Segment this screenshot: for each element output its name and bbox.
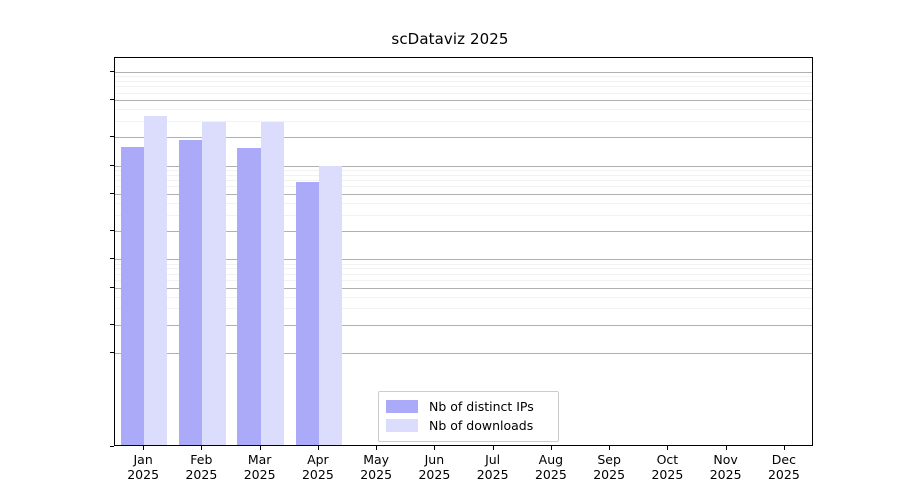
x-tick-mark [784, 446, 785, 450]
x-tick-month: Dec [747, 452, 821, 467]
y-tick-mark [110, 71, 114, 72]
x-tick-mark [609, 446, 610, 450]
x-tick-mark [726, 446, 727, 450]
x-tick-label: Dec2025 [747, 452, 821, 482]
x-tick-mark [376, 446, 377, 450]
x-tick-mark [493, 446, 494, 450]
x-tick-mark [551, 446, 552, 450]
y-tick-mark [110, 193, 114, 194]
x-tick-mark [434, 446, 435, 450]
y-tick-mark [110, 258, 114, 259]
y-tick-mark [110, 230, 114, 231]
chart-legend: Nb of distinct IPs Nb of downloads [378, 391, 559, 442]
y-tick-mark [110, 99, 114, 100]
x-tick-mark [260, 446, 261, 450]
chart-figure: scDataviz 2025 01251020501002005001000 J… [0, 0, 900, 500]
y-tick-mark [110, 165, 114, 166]
y-tick-mark [110, 287, 114, 288]
x-tick-mark [667, 446, 668, 450]
y-tick-mark [110, 446, 114, 447]
legend-item: Nb of distinct IPs [386, 397, 551, 416]
y-tick-mark [110, 324, 114, 325]
legend-label: Nb of distinct IPs [429, 399, 534, 414]
legend-swatch-icon [386, 400, 418, 413]
x-tick-mark [318, 446, 319, 450]
legend-item: Nb of downloads [386, 416, 551, 435]
x-tick-mark [143, 446, 144, 450]
x-tick-year: 2025 [747, 467, 821, 482]
legend-swatch-icon [386, 419, 418, 432]
legend-label: Nb of downloads [429, 418, 533, 433]
y-tick-mark [110, 352, 114, 353]
y-tick-mark [110, 136, 114, 137]
x-tick-mark [201, 446, 202, 450]
